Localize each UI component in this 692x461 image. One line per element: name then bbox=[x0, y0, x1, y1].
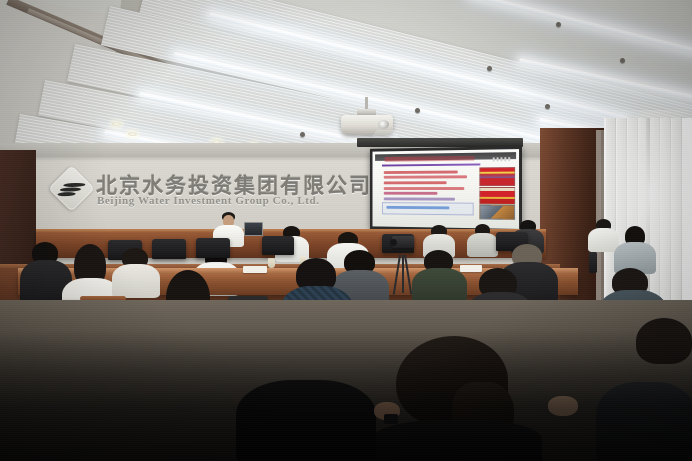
slide-text-line bbox=[384, 192, 438, 195]
camera-lens-icon bbox=[390, 239, 397, 246]
slide-divider bbox=[382, 164, 480, 167]
recessed-downlight bbox=[128, 132, 137, 136]
chair bbox=[196, 238, 230, 258]
sprinkler-head-icon bbox=[545, 104, 550, 109]
slide-text-line bbox=[384, 170, 459, 173]
slide-text-line bbox=[384, 197, 456, 200]
conference-room-photo: 北京水务投资集团有限公司 Beijing Water Investment Gr… bbox=[0, 0, 692, 461]
slide-image-flag bbox=[479, 167, 515, 187]
chair bbox=[262, 236, 294, 255]
company-name-english: Beijing Water Investment Group Co., Ltd. bbox=[97, 195, 320, 207]
paper-cup bbox=[268, 258, 275, 268]
window-controls-icon bbox=[493, 157, 510, 161]
papers-on-desk bbox=[243, 266, 267, 273]
sprinkler-head-icon bbox=[415, 108, 420, 113]
slide-text-line bbox=[384, 176, 467, 179]
slide-text-line bbox=[386, 206, 449, 209]
hand bbox=[548, 396, 578, 416]
chair bbox=[152, 239, 186, 259]
slide-image-banner bbox=[479, 187, 515, 205]
slide-text-line bbox=[384, 181, 447, 184]
papers-on-desk bbox=[460, 265, 482, 272]
projection-screen bbox=[370, 146, 522, 232]
water-bottle bbox=[589, 252, 597, 273]
tripod-leg bbox=[402, 255, 404, 293]
slide-callout-box bbox=[382, 203, 473, 216]
sprinkler-head-icon bbox=[556, 22, 561, 27]
slide-surface bbox=[373, 149, 520, 229]
slide-image-photo bbox=[479, 205, 515, 220]
projector-lens bbox=[378, 120, 389, 129]
recessed-downlight bbox=[112, 122, 121, 126]
sprinkler-head-icon bbox=[620, 58, 625, 63]
slide-text-line bbox=[384, 187, 464, 190]
wristband bbox=[384, 414, 398, 424]
sprinkler-head-icon bbox=[300, 132, 305, 137]
slide-heading bbox=[385, 155, 475, 162]
sprinkler-head-icon bbox=[487, 66, 492, 71]
presenter-laptop bbox=[244, 222, 263, 236]
